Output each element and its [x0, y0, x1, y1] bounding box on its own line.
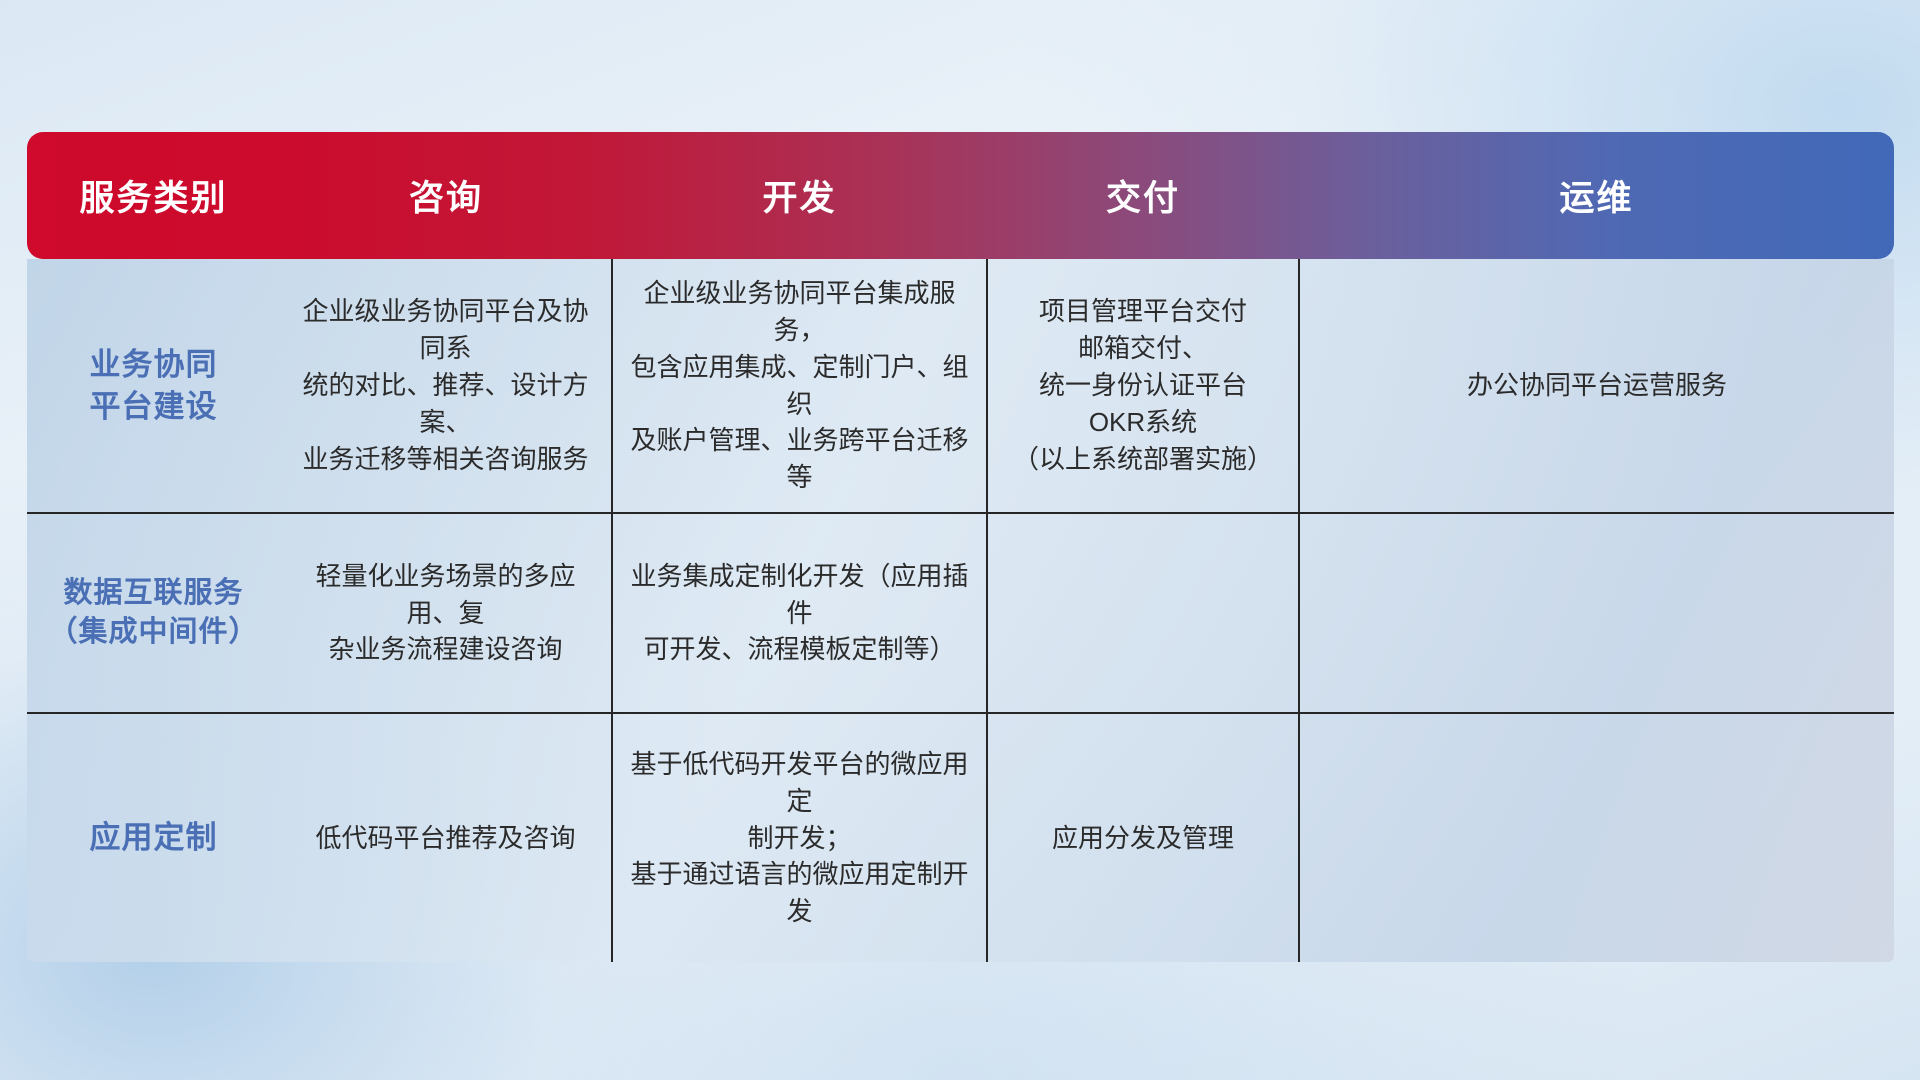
cell-development-row2: 业务集成定制化开发（应用插件 可开发、流程模板定制等）	[612, 513, 987, 713]
cell-delivery-row3: 应用分发及管理	[987, 713, 1299, 962]
column-header-operations: 运维	[1299, 132, 1894, 259]
slide-canvas: 服务类别 咨询 开发 交付 运维 业务协同 平台建设 企业级业务协同平台及协同系…	[0, 0, 1920, 1080]
table-header-row: 服务类别 咨询 开发 交付 运维	[27, 132, 1894, 259]
cell-operations-row3	[1299, 713, 1894, 962]
column-header-delivery: 交付	[987, 132, 1299, 259]
column-header-development: 开发	[612, 132, 987, 259]
cell-delivery-row2	[987, 513, 1299, 713]
column-header-consulting: 咨询	[280, 132, 612, 259]
row-label-data-interconnect: 数据互联服务 （集成中间件）	[27, 513, 280, 713]
cell-consulting-row3: 低代码平台推荐及咨询	[280, 713, 612, 962]
row-label-business-collaboration: 业务协同 平台建设	[27, 259, 280, 513]
row-label-app-customization: 应用定制	[27, 713, 280, 962]
cell-development-row3: 基于低代码开发平台的微应用定 制开发； 基于通过语言的微应用定制开发	[612, 713, 987, 962]
table-row: 应用定制 低代码平台推荐及咨询 基于低代码开发平台的微应用定 制开发； 基于通过…	[27, 713, 1894, 962]
table-row: 数据互联服务 （集成中间件） 轻量化业务场景的多应用、复 杂业务流程建设咨询 业…	[27, 513, 1894, 713]
service-matrix-table: 服务类别 咨询 开发 交付 运维 业务协同 平台建设 企业级业务协同平台及协同系…	[27, 132, 1894, 962]
column-header-category: 服务类别	[27, 132, 280, 259]
cell-operations-row2	[1299, 513, 1894, 713]
cell-delivery-row1: 项目管理平台交付 邮箱交付、 统一身份认证平台 OKR系统 （以上系统部署实施）	[987, 259, 1299, 513]
cell-consulting-row2: 轻量化业务场景的多应用、复 杂业务流程建设咨询	[280, 513, 612, 713]
table-row: 业务协同 平台建设 企业级业务协同平台及协同系 统的对比、推荐、设计方案、 业务…	[27, 259, 1894, 513]
cell-development-row1: 企业级业务协同平台集成服务， 包含应用集成、定制门户、组织 及账户管理、业务跨平…	[612, 259, 987, 513]
cell-operations-row1: 办公协同平台运营服务	[1299, 259, 1894, 513]
cell-consulting-row1: 企业级业务协同平台及协同系 统的对比、推荐、设计方案、 业务迁移等相关咨询服务	[280, 259, 612, 513]
